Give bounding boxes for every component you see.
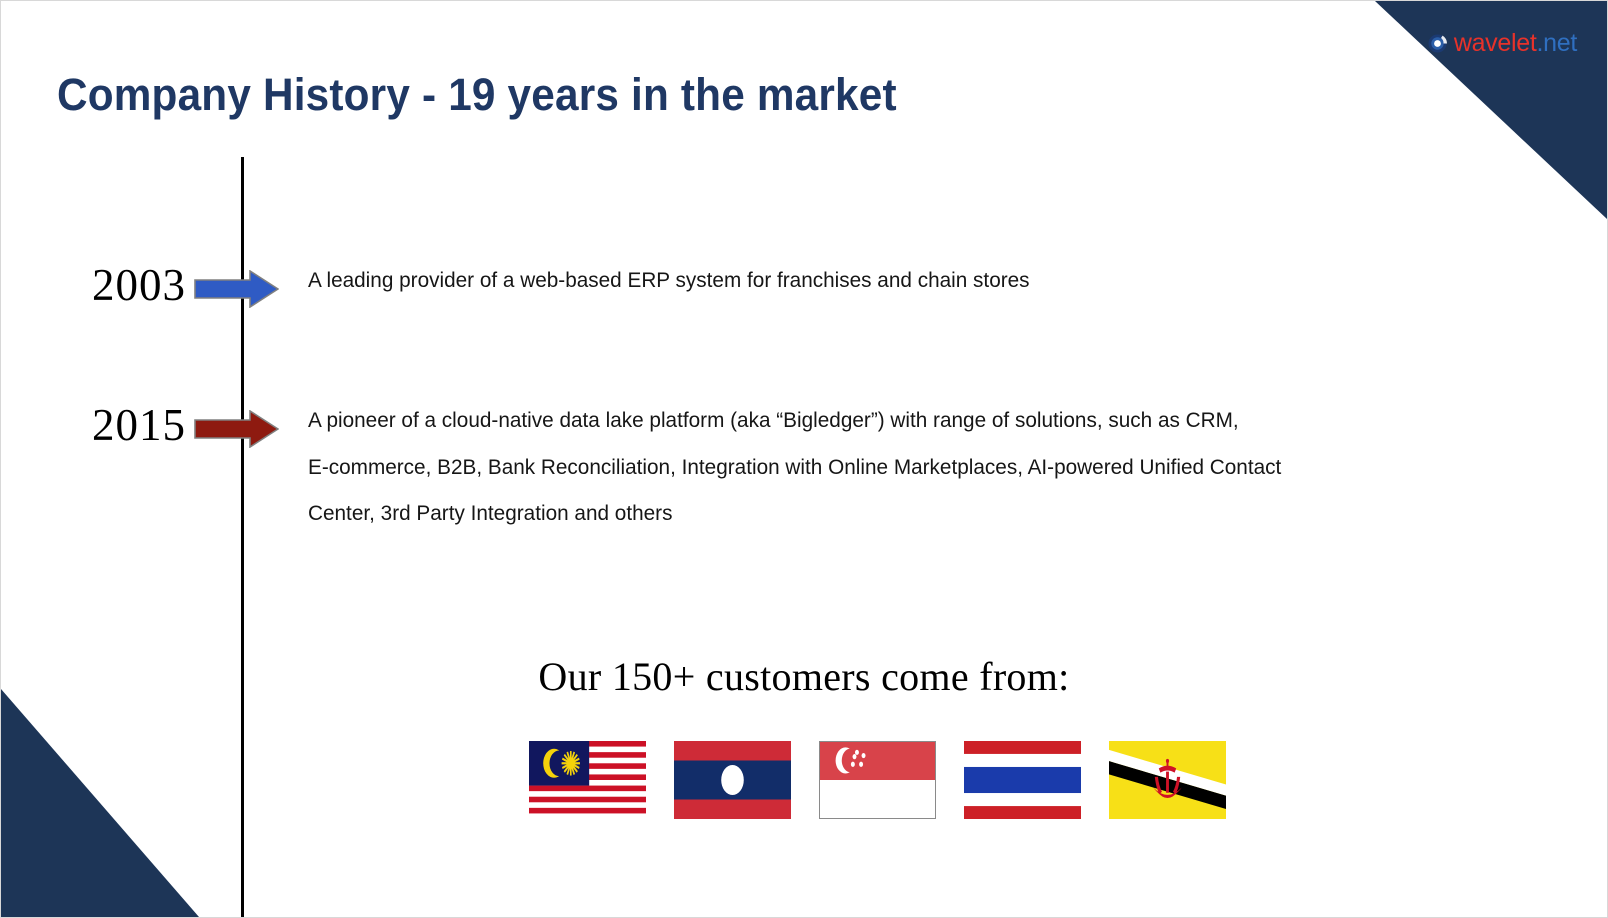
wavelet-eye-icon — [1428, 34, 1447, 53]
laos-flag — [674, 741, 791, 819]
timeline-text-line: A pioneer of a cloud-native data lake pl… — [308, 397, 1427, 444]
malaysia-flag — [529, 741, 646, 819]
right-arrow-icon — [194, 410, 279, 448]
timeline-text-line: A leading provider of a web-based ERP sy… — [308, 257, 1427, 304]
logo-wordmark: wavelet.net — [1454, 29, 1577, 58]
right-arrow-icon — [194, 270, 279, 308]
bottom-left-corner-decoration — [1, 689, 199, 917]
timeline-text-2015: A pioneer of a cloud-native data lake pl… — [308, 397, 1427, 537]
singapore-flag — [819, 741, 936, 819]
timeline-year-label: 2003 — [61, 257, 186, 313]
logo-brand: wavelet — [1454, 29, 1537, 57]
timeline-text-line: E-commerce, B2B, Bank Reconciliation, In… — [308, 444, 1427, 491]
wavelet-logo[interactable]: wavelet.net — [1428, 29, 1577, 58]
slide-canvas: wavelet.net Company History - 19 years i… — [0, 0, 1608, 918]
timeline-text-line: Center, 3rd Party Integration and others — [308, 490, 1427, 537]
thailand-flag — [964, 741, 1081, 819]
page-title: Company History - 19 years in the market — [57, 69, 897, 121]
customer-flags-row — [529, 741, 1226, 819]
timeline-year-label: 2015 — [61, 397, 186, 453]
timeline-text-2003: A leading provider of a web-based ERP sy… — [308, 257, 1427, 304]
logo-suffix: .net — [1537, 29, 1578, 57]
brunei-flag — [1109, 741, 1226, 819]
